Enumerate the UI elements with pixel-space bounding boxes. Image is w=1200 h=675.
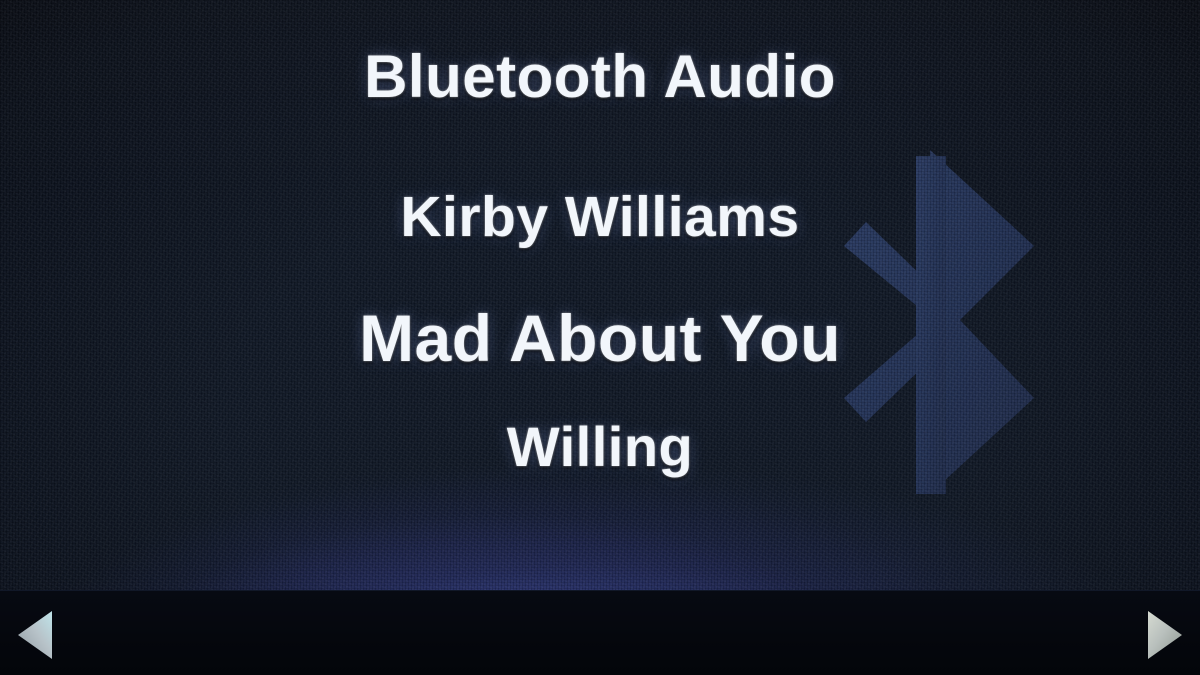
triangle-right-icon [1148,611,1182,659]
bottom-navigation-bar [0,590,1200,675]
triangle-left-icon [18,611,52,659]
previous-button[interactable] [14,608,58,662]
now-playing-info: Bluetooth Audio Kirby Williams Mad About… [0,0,1200,590]
artist-name: Kirby Williams [0,182,1200,252]
track-title: Mad About You [0,298,1200,378]
bluetooth-audio-screen: Bluetooth Audio Kirby Williams Mad About… [0,0,1200,675]
next-button[interactable] [1142,608,1186,662]
album-name: Willing [0,412,1200,482]
audio-source-title: Bluetooth Audio [0,40,1200,114]
